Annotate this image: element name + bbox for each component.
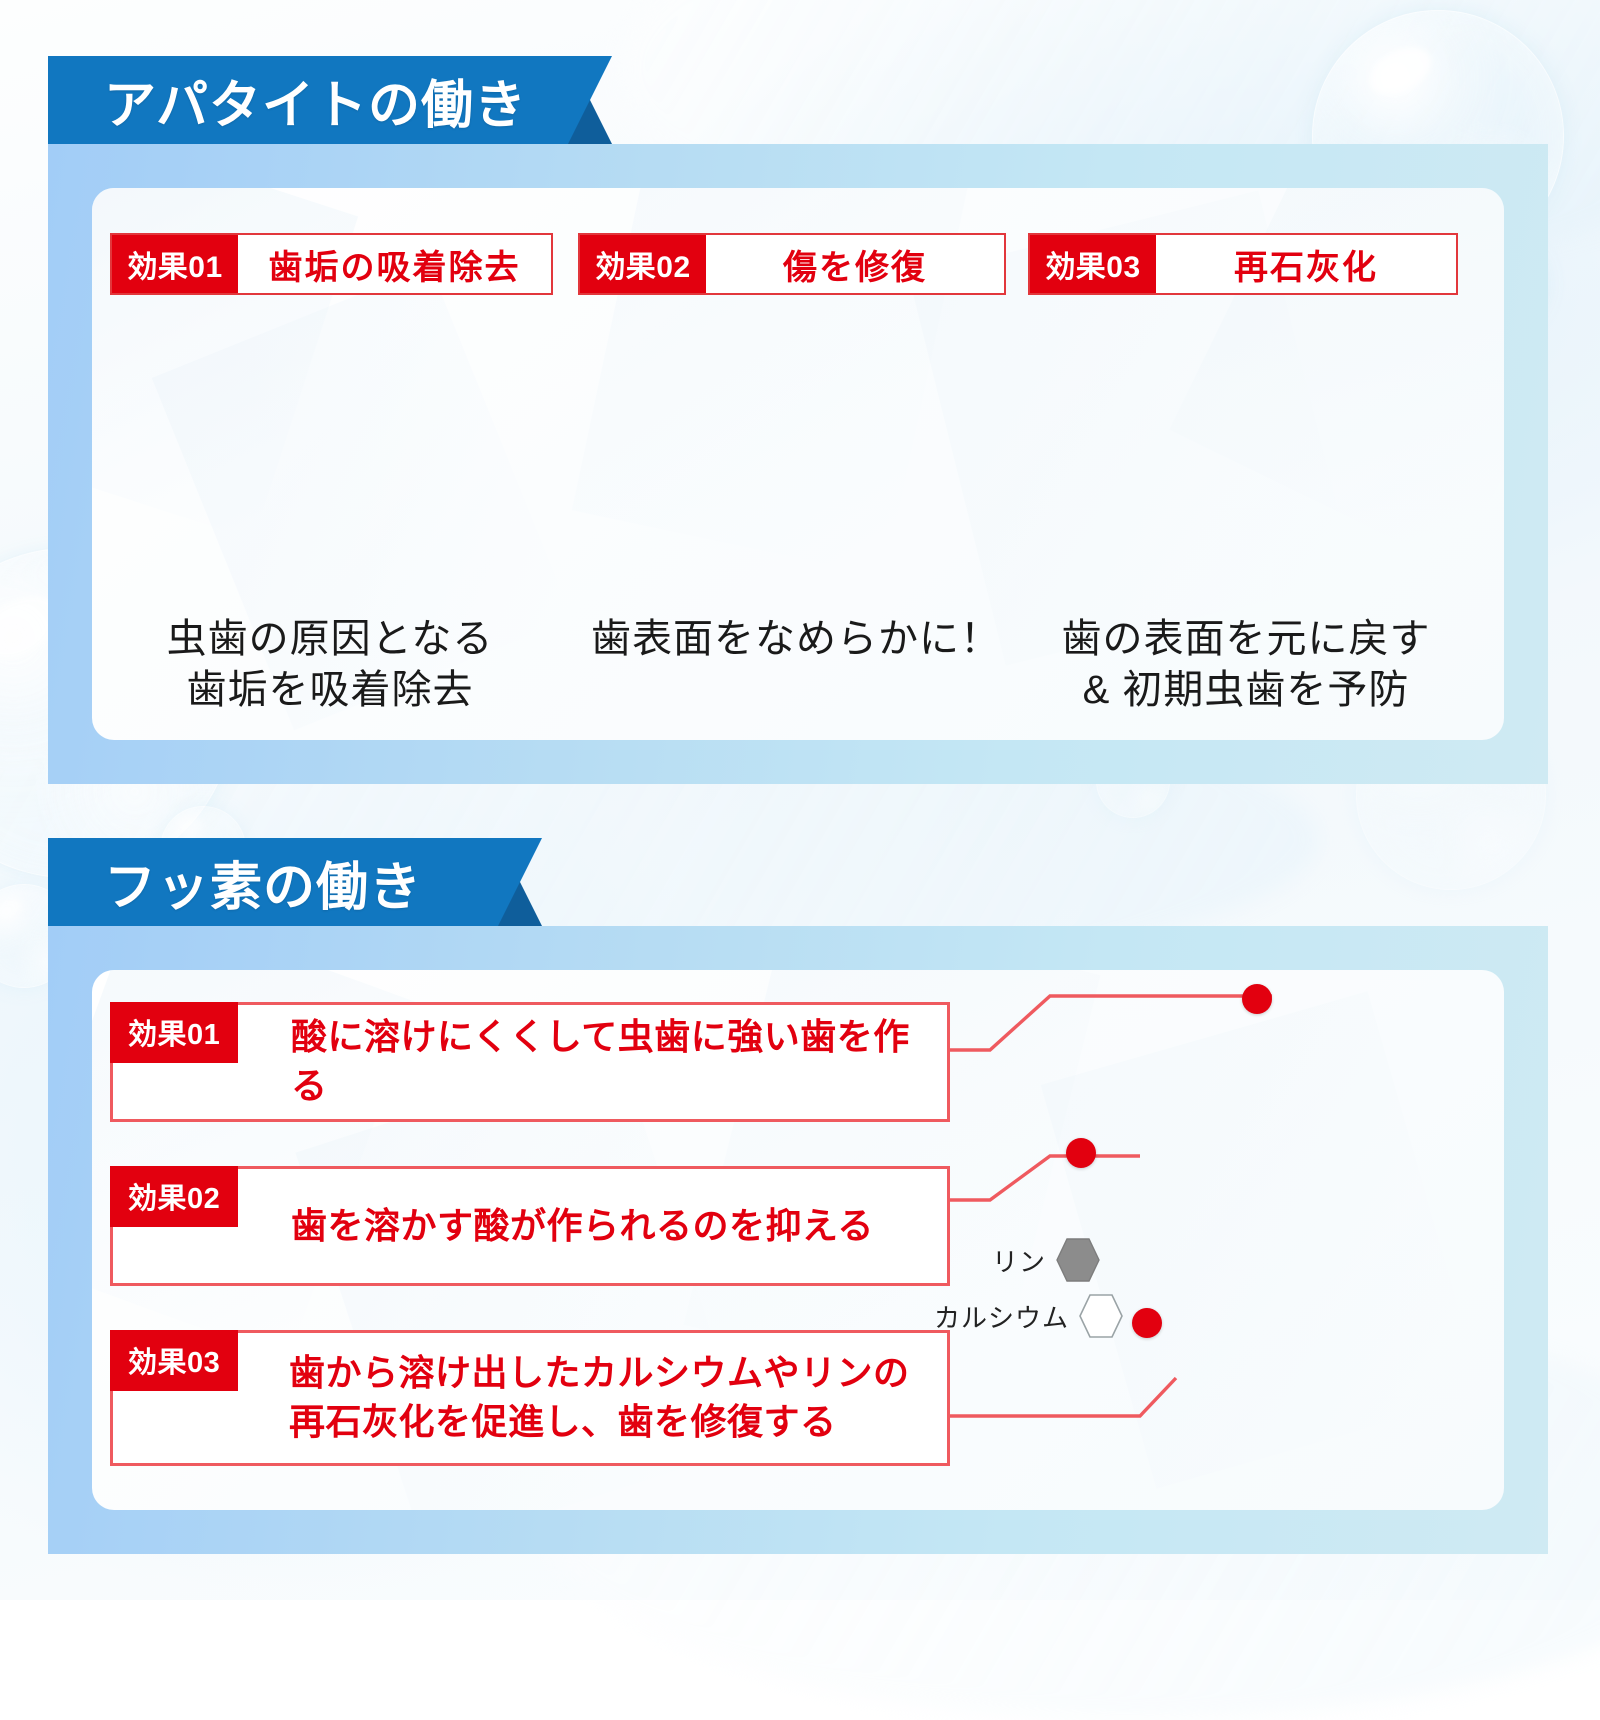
- calcium-label: カルシウム: [934, 1298, 1069, 1335]
- effect-badge-01-number: 効果01: [112, 235, 238, 293]
- fluoride-effect-row-03: 効果03 歯から溶け出したカルシウムやリンの 再石灰化を促進し、歯を修復する: [110, 1330, 950, 1466]
- phosphorus-hexagon-icon: [1054, 1236, 1102, 1284]
- phosphorus-label: リン: [992, 1242, 1046, 1279]
- red-dot-connector-icon-1: [1242, 984, 1272, 1014]
- section-banner-apatite: アパタイトの働き: [48, 56, 568, 144]
- caption-effect-03-line1: 歯の表面を元に戻す: [1026, 614, 1466, 665]
- fluoride-effect-row-02: 効果02 歯を溶かす酸が作られるのを抑える: [110, 1166, 950, 1286]
- fluoride-effect-row-02-line1: 歯を溶かす酸が作られるのを抑える: [291, 1202, 929, 1251]
- effect-badge-03-number: 効果03: [1030, 235, 1156, 293]
- banner-corner-shade-2: [498, 838, 542, 926]
- effect-badge-01-title: 歯垢の吸着除去: [238, 235, 551, 293]
- fluoride-effect-row-03-line1: 歯から溶け出したカルシウムやリンの: [289, 1349, 929, 1398]
- red-dot-connector-icon-2: [1066, 1138, 1096, 1168]
- red-dot-connector-icon-3: [1132, 1308, 1162, 1338]
- caption-effect-02-line1: 歯表面をなめらかに！: [576, 614, 1016, 665]
- banner-title-apatite: アパタイトの働き: [104, 63, 527, 138]
- effect-badge-01: 効果01 歯垢の吸着除去: [110, 233, 553, 295]
- effect-badge-02-number: 効果02: [580, 235, 706, 293]
- calcium-hexagon-icon: [1077, 1292, 1125, 1340]
- effect-badge-02-title: 傷を修復: [706, 235, 1004, 293]
- fluoride-effect-row-02-number: 効果02: [110, 1166, 238, 1227]
- calcium-label-group: カルシウム: [934, 1292, 1125, 1340]
- fluoride-effect-row-01: 効果01 酸に溶けにくくして虫歯に強い歯を作る: [110, 1002, 950, 1122]
- section-banner-fluoride: フッ素の働き: [48, 838, 498, 926]
- caption-effect-03: 歯の表面を元に戻す & 初期虫歯を予防: [1026, 614, 1466, 716]
- phosphorus-label-group: リン: [992, 1236, 1102, 1284]
- caption-effect-03-line2: & 初期虫歯を予防: [1026, 665, 1466, 716]
- effect-badge-03: 効果03 再石灰化: [1028, 233, 1458, 295]
- fluoride-effect-row-03-number: 効果03: [110, 1330, 238, 1391]
- caption-effect-01-line1: 虫歯の原因となる: [110, 614, 550, 665]
- fluoride-effect-row-03-line2: 再石灰化を促進し、歯を修復する: [289, 1398, 929, 1447]
- caption-effect-01-line2: 歯垢を吸着除去: [110, 665, 550, 716]
- fluoride-effect-row-01-line1: 酸に溶けにくくして虫歯に強い歯を作る: [291, 1013, 929, 1110]
- callout-connector-fluoride-3: [940, 1330, 1300, 1490]
- banner-title-fluoride: フッ素の働き: [104, 845, 422, 920]
- effect-badge-02: 効果02 傷を修復: [578, 233, 1006, 295]
- effect-badge-03-title: 再石灰化: [1156, 235, 1456, 293]
- fluoride-effect-row-01-number: 効果01: [110, 1002, 238, 1063]
- caption-effect-01: 虫歯の原因となる 歯垢を吸着除去: [110, 614, 550, 716]
- caption-effect-02: 歯表面をなめらかに！: [576, 614, 1016, 665]
- banner-corner-shade: [568, 56, 612, 144]
